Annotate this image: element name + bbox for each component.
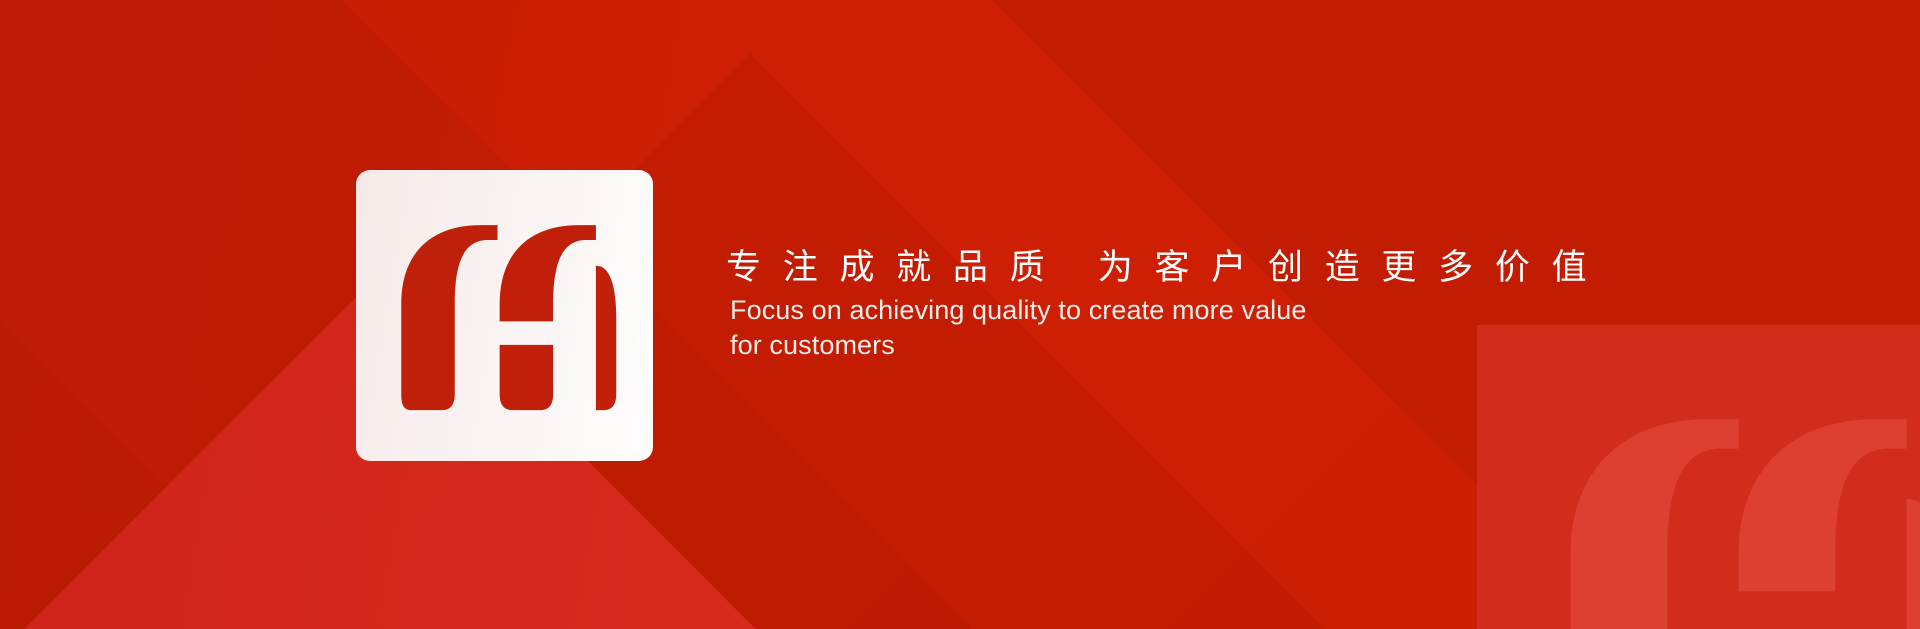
banner-subline-2: for customers: [726, 328, 1498, 363]
banner-text-block: 专 注 成 就 品 质 为 客 户 创 造 更 多 价 值 Focus on a…: [726, 248, 1726, 363]
bg-shape-sliver: [0, 322, 368, 629]
hero-banner: 专 注 成 就 品 质 为 客 户 创 造 更 多 价 值 Focus on a…: [0, 0, 1920, 629]
logo-watermark: [1477, 325, 1920, 629]
stylized-h-arches-icon: [382, 193, 628, 439]
banner-headline: 专 注 成 就 品 质 为 客 户 创 造 更 多 价 值: [726, 248, 1726, 287]
banner-subline-1: Focus on achieving quality to create mor…: [726, 293, 1498, 328]
stylized-h-arches-icon: [1537, 373, 1920, 629]
company-logo: [356, 170, 653, 461]
